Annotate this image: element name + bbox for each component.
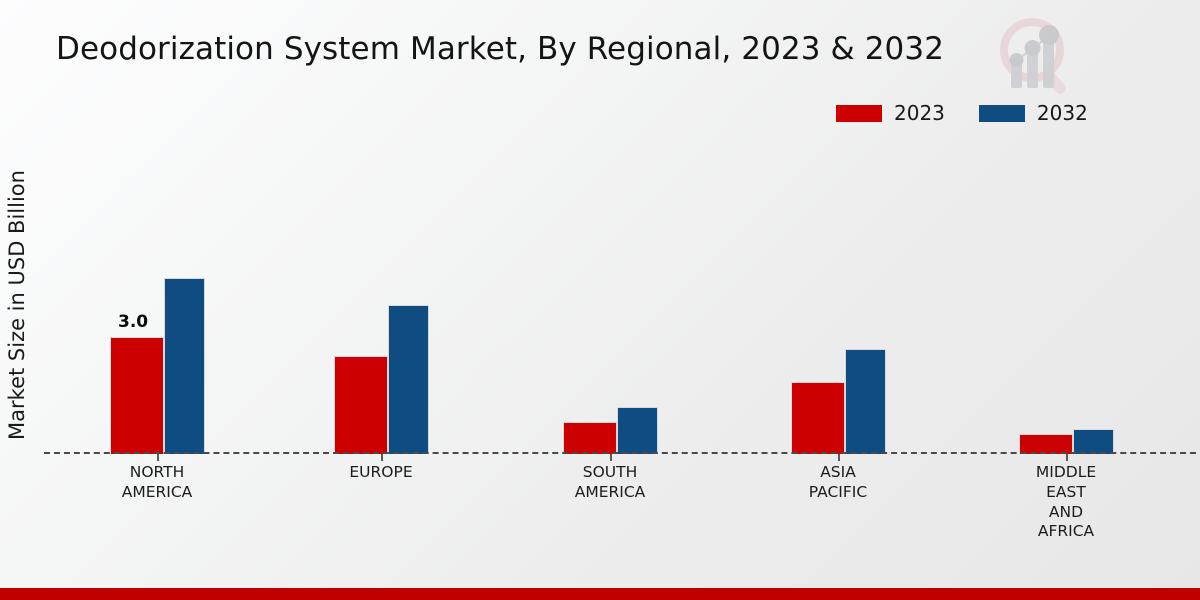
bars-middle-east-and-africa xyxy=(1019,150,1114,454)
y-axis-title-text: Market Size in USD Billion xyxy=(5,170,29,440)
bar-south-america-2023[interactable] xyxy=(563,422,617,454)
category-label-middle-east-and-africa: MIDDLE EAST AND AFRICA xyxy=(971,463,1161,542)
category-label-asia-pacific: ASIA PACIFIC xyxy=(743,463,933,503)
chart-legend: 2023 2032 xyxy=(836,103,1088,123)
bars-europe xyxy=(334,150,429,454)
axis-tick-europe xyxy=(381,454,383,461)
bottom-accent-band xyxy=(0,588,1200,600)
bar-europe-2032[interactable] xyxy=(388,305,429,454)
bar-south-america-2032[interactable] xyxy=(617,407,658,454)
bars-asia-pacific xyxy=(791,150,886,454)
bar-asia-pacific-2032[interactable] xyxy=(845,349,886,454)
axis-tick-north-america xyxy=(157,454,159,461)
x-axis-baseline xyxy=(44,452,1196,454)
legend-item-2032[interactable]: 2032 xyxy=(979,103,1088,123)
bar-value-north-america-2023: 3.0 xyxy=(118,312,148,332)
axis-tick-asia-pacific xyxy=(838,454,840,461)
bar-middle-east-and-africa-2032[interactable] xyxy=(1073,429,1114,454)
bars-north-america xyxy=(110,150,205,454)
y-axis-title: Market Size in USD Billion xyxy=(0,140,34,470)
bar-north-america-2023[interactable] xyxy=(110,337,164,454)
bar-europe-2023[interactable] xyxy=(334,356,388,454)
chart-title: Deodorization System Market, By Regional… xyxy=(56,31,944,67)
legend-swatch-2023 xyxy=(836,105,882,122)
axis-tick-south-america xyxy=(610,454,612,461)
axis-tick-middle-east-and-africa xyxy=(1066,454,1068,461)
chart-container: Deodorization System Market, By Regional… xyxy=(0,0,1200,600)
plot-area: 3.0 NORTH AMERICA EUROPE SOUTH AMERICA xyxy=(44,150,1194,454)
category-label-europe: EUROPE xyxy=(286,463,476,483)
legend-label-2032: 2032 xyxy=(1037,103,1088,123)
bar-asia-pacific-2023[interactable] xyxy=(791,382,845,454)
legend-swatch-2032 xyxy=(979,105,1025,122)
legend-item-2023[interactable]: 2023 xyxy=(836,103,945,123)
bar-middle-east-and-africa-2023[interactable] xyxy=(1019,434,1073,454)
watermark-logo-icon xyxy=(988,12,1084,98)
bars-south-america xyxy=(563,150,658,454)
bar-north-america-2032[interactable] xyxy=(164,278,205,454)
category-label-north-america: NORTH AMERICA xyxy=(62,463,252,503)
category-label-south-america: SOUTH AMERICA xyxy=(515,463,705,503)
legend-label-2023: 2023 xyxy=(894,103,945,123)
